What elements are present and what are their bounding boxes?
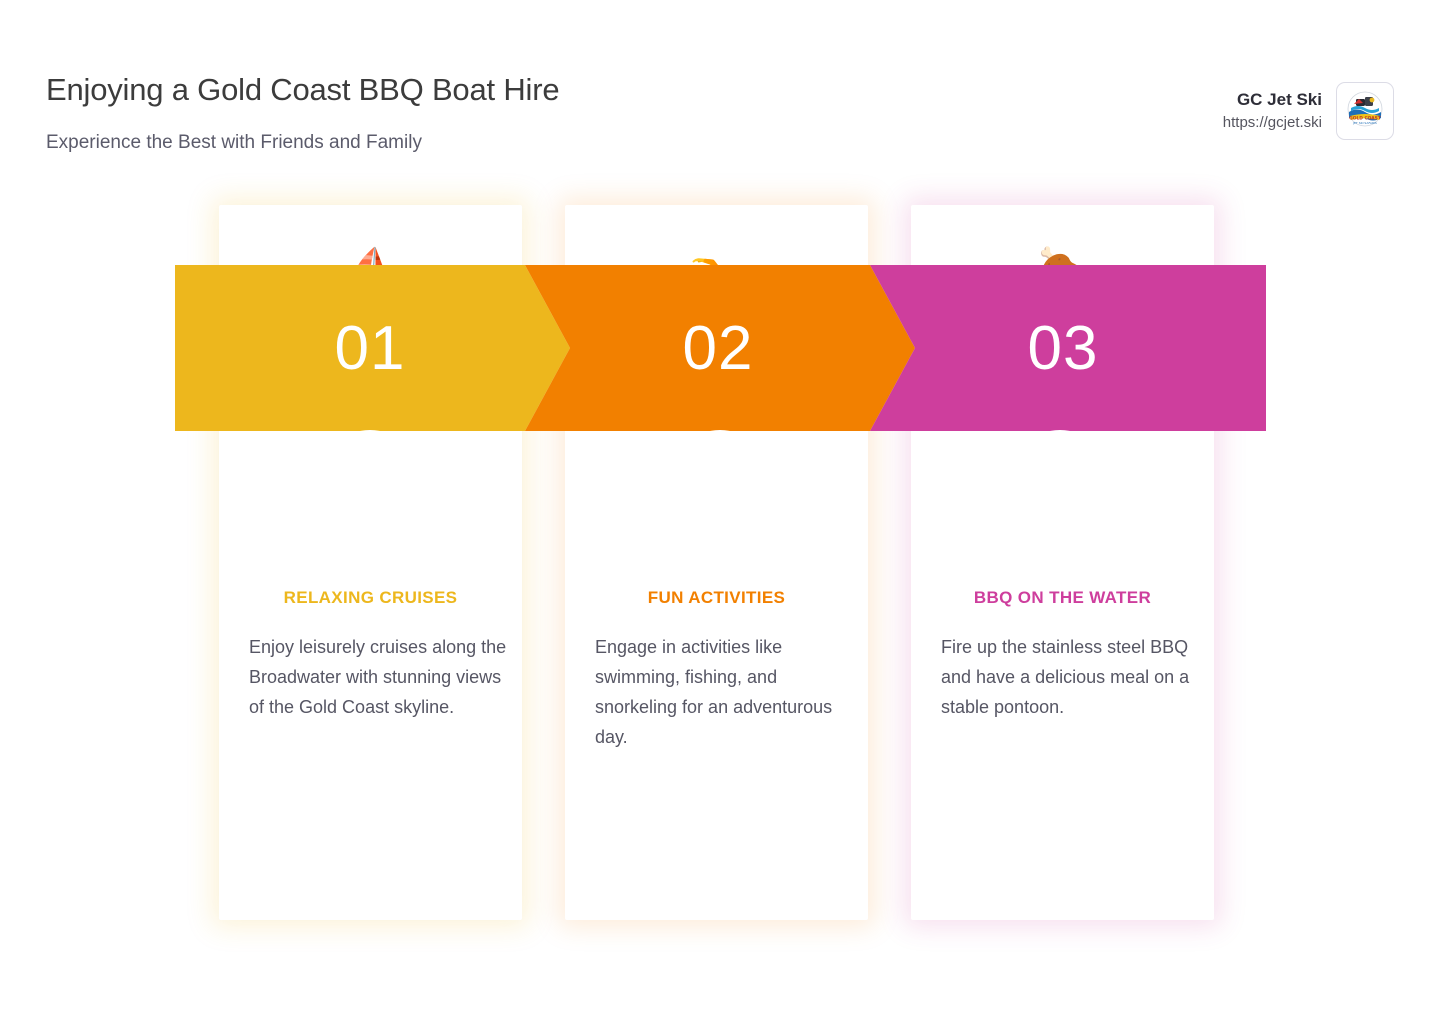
step-2-description: Engage in activities like swimming, fish… [595, 632, 857, 752]
step-1-number: 01 [197, 265, 543, 431]
step-1-description: Enjoy leisurely cruises along the Broadw… [249, 632, 511, 722]
step-cards: ⛵ 🏊 🍖 RELAXING CRUISES FUN ACTIVITIES BB… [0, 0, 1440, 1024]
step-2-number: 02 [545, 265, 891, 431]
step-3-title: BBQ ON THE WATER [911, 588, 1214, 608]
step-2-title: FUN ACTIVITIES [565, 588, 868, 608]
steps-chevron-band: 01 02 03 [175, 265, 1266, 431]
step-1-title: RELAXING CRUISES [219, 588, 522, 608]
step-3-description: Fire up the stainless steel BBQ and have… [941, 632, 1203, 722]
step-3-number: 03 [890, 265, 1236, 431]
infographic-page: Enjoying a Gold Coast BBQ Boat Hire Expe… [0, 0, 1440, 1024]
